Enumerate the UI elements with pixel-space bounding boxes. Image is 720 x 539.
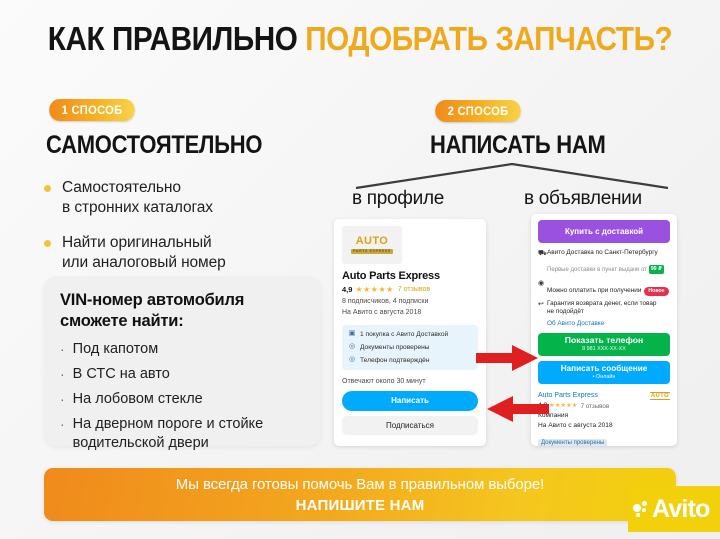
rating-row: 4,9 ★★★★★ 7 отзывов (538, 401, 670, 411)
rating-value: 4,9 (342, 285, 352, 294)
profile-card: AUTO PARTS EXPRESS Auto Parts Express 4,… (334, 219, 486, 446)
logo-text-auto: AUTO (356, 236, 389, 247)
stars-icon: ★★★★★ (549, 402, 577, 411)
seller-logo-icon: AUTO (650, 392, 670, 400)
delivery-title: Можно оплатить при получении (547, 287, 641, 294)
write-message-label: Написать сообщение (561, 365, 648, 374)
logo-text-parts-express: PARTS EXPRESS (351, 249, 393, 254)
avito-wordmark: Avito (652, 497, 710, 522)
list-item: Самостоятельно в стронних каталогах (44, 178, 324, 219)
dash-icon: · (60, 365, 65, 384)
write-message-button[interactable]: Написать (342, 391, 478, 411)
list-item: ↩ Гарантия возврата денег, если товар не… (538, 300, 670, 317)
bullet-dot-icon (44, 185, 51, 192)
wallet-icon: ◉ (538, 279, 547, 297)
headline-dark-part: КАК ПРАВИЛЬНО (48, 20, 305, 57)
feature-list: ▣ 1 покупка с Авито Доставкой ◎ Документ… (342, 325, 478, 370)
seller-member-since: На Авито с августа 2018 (538, 421, 670, 431)
method-1-bullet-list: Самостоятельно в стронних каталогах Найт… (44, 178, 324, 288)
bullet-dot-icon (44, 240, 51, 247)
member-since-text: На Авито с августа 2018 (342, 308, 478, 319)
method-1-badge: 1 способ (49, 99, 135, 121)
seller-block: AUTO Auto Parts Express 4,9 ★★★★★ 7 отзы… (538, 391, 670, 446)
about-delivery-link[interactable]: Об Авито Доставке (547, 320, 670, 327)
phone-number-masked: 8 981 XXX-XX-XX (582, 346, 626, 352)
list-item: · На лобовом стекле (60, 390, 305, 409)
banner-line-1: Мы всегда готовы помочь Вам в правильном… (176, 476, 544, 494)
followers-text: 8 подписчиков, 4 подписки (342, 297, 478, 308)
sub-label-ad: в объявлении (524, 188, 642, 210)
list-item: Найти оригинальный или аналоговый номер (44, 233, 324, 274)
reviews-link[interactable]: 7 отзывов (581, 402, 610, 411)
status-badge: Документы проверены (538, 439, 607, 446)
list-item: ◉ Можно оплатить при полученииНовое (538, 279, 670, 297)
dash-icon: · (60, 390, 65, 409)
vin-item-text: Под капотом (73, 340, 159, 359)
ad-card: Купить с доставкой ⛟ Авито Доставка по С… (531, 214, 677, 446)
method-1-title: Самостоятельно (46, 133, 262, 158)
avito-watermark: Avito (628, 486, 720, 532)
feature-label: Документы проверены (360, 344, 430, 351)
list-item: ⛟ Авито Доставка по Санкт-Петербургу Пер… (538, 249, 670, 276)
seller-logo: AUTO PARTS EXPRESS (342, 226, 402, 264)
vin-item-text: На дверном пороге и стойке водительской … (73, 415, 263, 453)
arrow-right-icon (476, 345, 538, 371)
price-chip: 99 ₽ (649, 265, 664, 274)
method-2-title: Написать нам (430, 133, 606, 158)
feature-label: 1 покупка с Авито Доставкой (360, 331, 448, 338)
page-title: КАК ПРАВИЛЬНО ПОДОБРАТЬ ЗАПЧАСТЬ? (36, 22, 684, 55)
avito-logo-icon (633, 501, 650, 518)
seller-name: Auto Parts Express (342, 270, 478, 282)
stars-icon: ★★★★★ (355, 285, 393, 294)
bullet-text: Самостоятельно в стронних каталогах (62, 178, 213, 219)
bottom-cta-banner: Мы всегда готовы помочь Вам в правильном… (44, 468, 676, 521)
banner-line-2: Напишите нам (296, 497, 425, 514)
buy-with-delivery-button[interactable]: Купить с доставкой (538, 220, 670, 243)
show-phone-label: Показать телефон (565, 336, 643, 345)
poster-canvas: КАК ПРАВИЛЬНО ПОДОБРАТЬ ЗАПЧАСТЬ? 1 спос… (0, 0, 720, 539)
dash-icon: · (60, 415, 65, 453)
dash-icon: · (60, 340, 65, 359)
check-circle-icon: ◎ (348, 343, 356, 351)
return-icon: ↩ (538, 300, 547, 317)
list-item: · На дверном пороге и стойке водительско… (60, 415, 305, 453)
show-phone-button[interactable]: Показать телефон 8 981 XXX-XX-XX (538, 333, 670, 356)
arrow-left-icon (487, 396, 549, 422)
vin-item-text: На лобовом стекле (73, 390, 203, 409)
list-item: ◎ Телефон подтверждён (346, 354, 474, 367)
list-item: ▣ 1 покупка с Авито Доставкой (346, 328, 474, 341)
online-status: • Онлайн (593, 374, 616, 380)
write-message-button[interactable]: Написать сообщение • Онлайн (538, 361, 670, 384)
check-circle-icon: ◎ (348, 356, 356, 364)
headline-accent-part: ПОДОБРАТЬ ЗАПЧАСТЬ? (305, 20, 672, 57)
new-badge: Новое (644, 287, 668, 296)
list-item: · В СТС на авто (60, 365, 305, 384)
box-icon: ▣ (348, 330, 356, 338)
vin-card-title: VIN-номер автомобиля сможете найти: (60, 290, 305, 332)
subscribe-button[interactable]: Подписаться (342, 416, 478, 435)
delivery-title: Авито Доставка по Санкт-Петербургу (547, 249, 670, 258)
delivery-title: Гарантия возврата денег, если товар не п… (547, 300, 670, 317)
truck-icon: ⛟ (538, 249, 547, 276)
list-item: · Под капотом (60, 340, 305, 359)
delivery-info-list: ⛟ Авито Доставка по Санкт-Петербургу Пер… (538, 249, 670, 327)
rating-row: 4,9 ★★★★★ 7 отзывов (342, 285, 478, 294)
list-item: ◎ Документы проверены (346, 341, 474, 354)
seller-type: Компания (538, 411, 670, 421)
delivery-subtitle: Первые доставки в пункт выдачи от (547, 267, 647, 273)
bullet-text: Найти оригинальный или аналоговый номер (62, 233, 226, 274)
vin-info-card: VIN-номер автомобиля сможете найти: · По… (44, 276, 321, 446)
response-time-text: Отвечают около 30 минут (342, 378, 478, 385)
vin-item-text: В СТС на авто (73, 365, 170, 384)
sub-label-profile: в профиле (352, 188, 444, 210)
feature-label: Телефон подтверждён (360, 357, 429, 364)
method-2-badge: 2 способ (435, 100, 521, 122)
reviews-link[interactable]: 7 отзывов (398, 286, 430, 293)
